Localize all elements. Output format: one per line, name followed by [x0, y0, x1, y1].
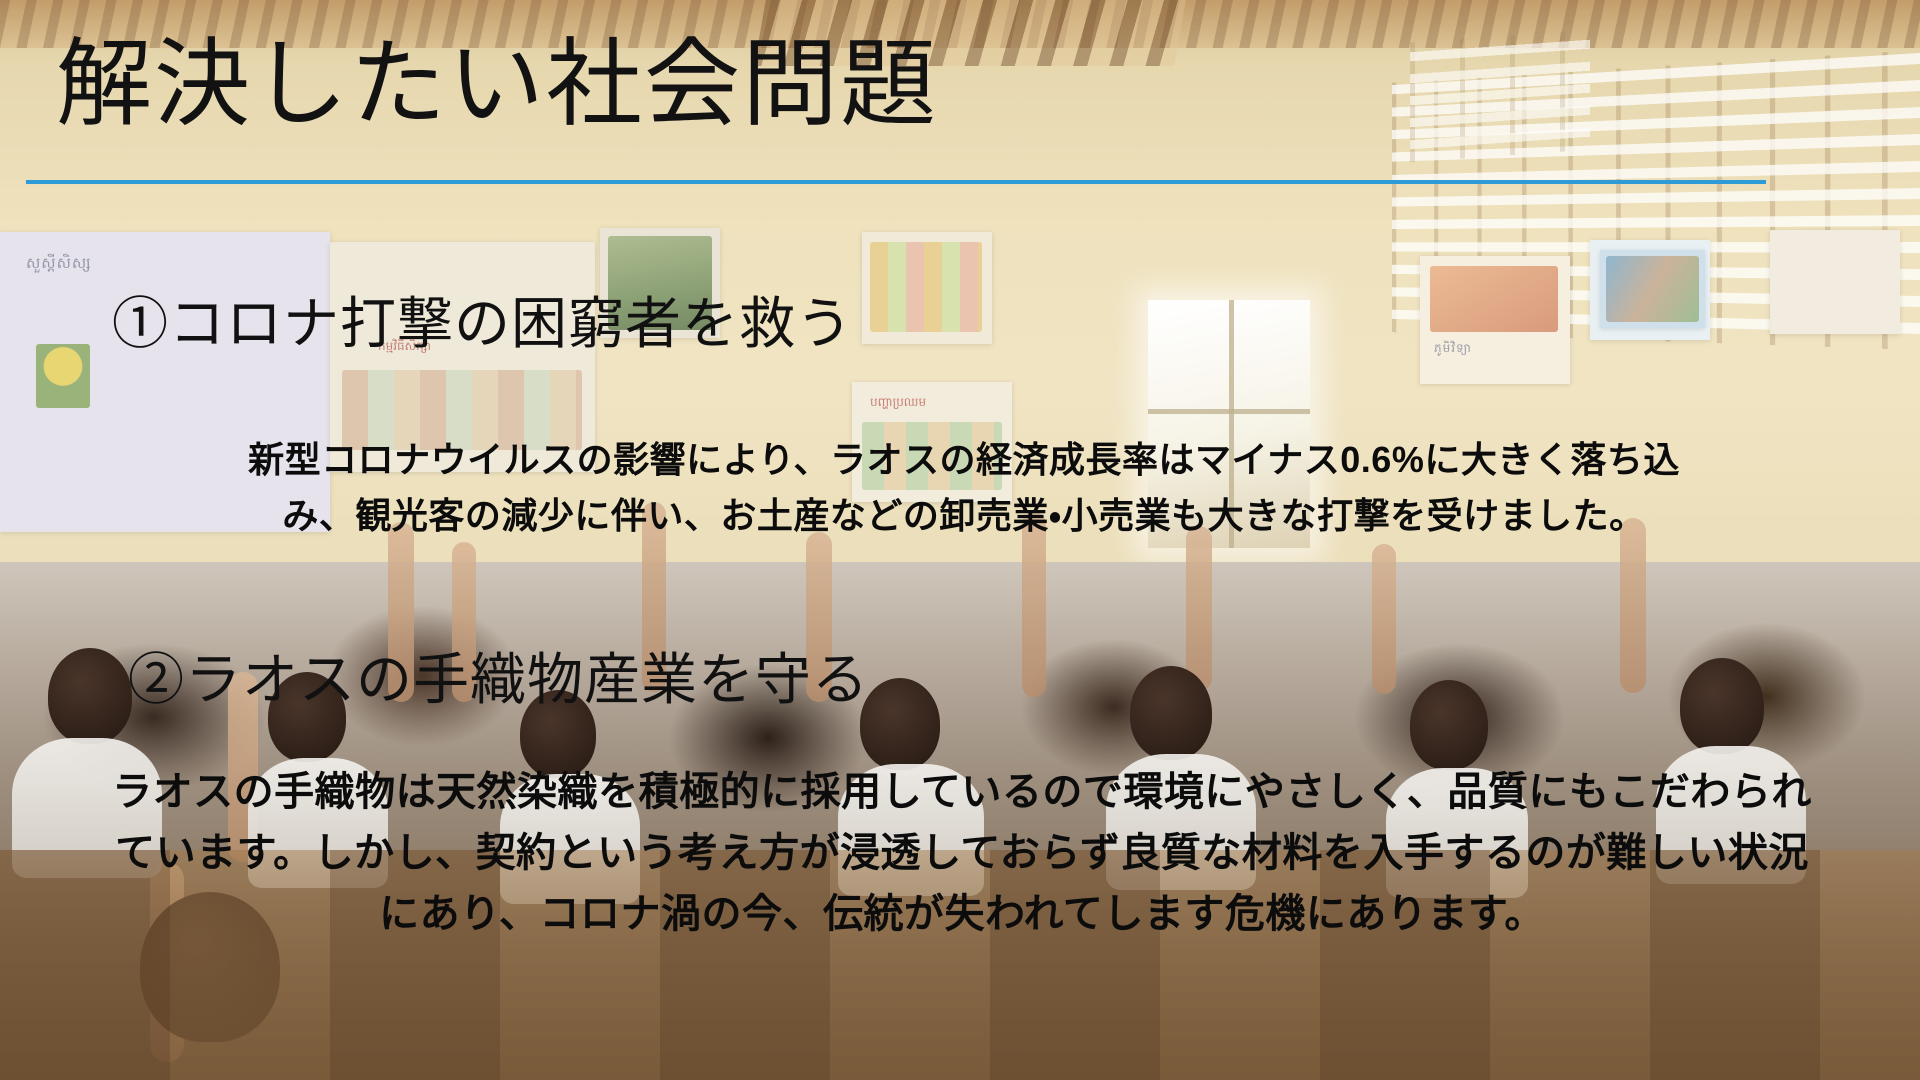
section-body-1: 新型コロナウイルスの影響により、ラオスの経済成長率はマイナス0.6%に大きく落ち… — [64, 432, 1864, 544]
section-heading-2: ②ラオスの手織物産業を守る — [128, 648, 869, 715]
body-line: ラオスの手織物は天然染織を積極的に採用しているので環境にやさしく、品質にもこだわ… — [8, 762, 1916, 823]
section-body-2: ラオスの手織物は天然染織を積極的に採用しているので環境にやさしく、品質にもこだわ… — [8, 762, 1916, 944]
presentation-slide: សួស្ដីសិស្ស កម្មវិធីសិក្សា បញ្ហាប្រឈម ភូ… — [0, 0, 1920, 1080]
slide-content: 解決したい社会問題 ①コロナ打撃の困窮者を救う 新型コロナウイルスの影響により、… — [0, 0, 1920, 1080]
page-title: 解決したい社会問題 — [56, 34, 938, 136]
body-line: 新型コロナウイルスの影響により、ラオスの経済成長率はマイナス0.6%に大きく落ち… — [64, 432, 1864, 488]
body-line: ています。しかし、契約という考え方が浸透しておらず良質な材料を入手するのが難しい… — [8, 823, 1916, 884]
body-line: み、観光客の減少に伴い、お土産などの卸売業・小売業も大きな打撃を受けました。 — [64, 488, 1864, 544]
body-line: にあり、コロナ渦の今、伝統が失われてします危機にあります。 — [8, 884, 1916, 945]
title-divider — [26, 180, 1766, 184]
section-heading-1: ①コロナ打撃の困窮者を救う — [112, 292, 853, 359]
